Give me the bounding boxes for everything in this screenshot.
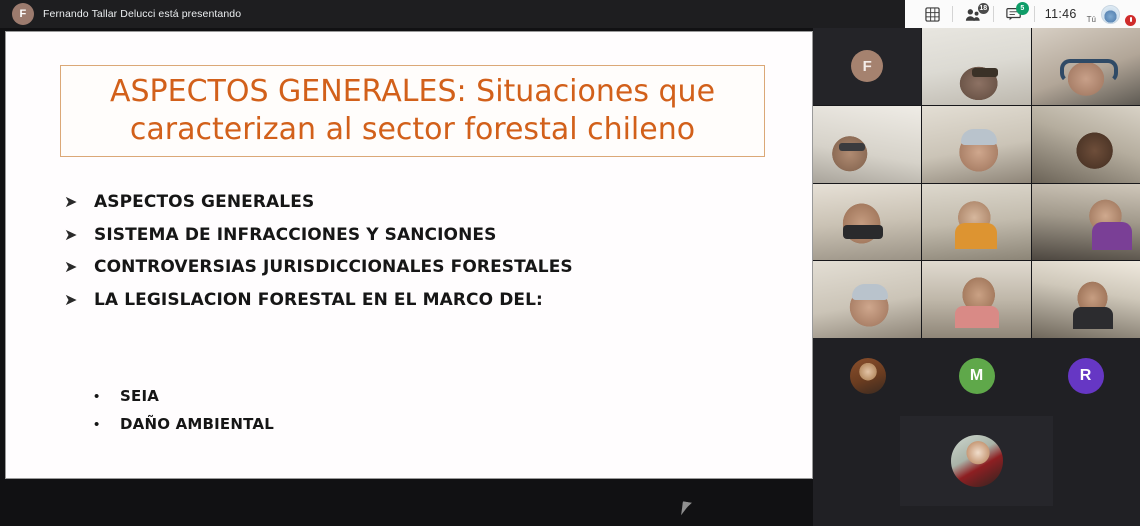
- avatar[interactable]: M: [959, 358, 995, 394]
- arrow-bullet-icon: ➤: [64, 195, 94, 211]
- audio-only-participants: M R: [813, 340, 1140, 412]
- slide-bullet-list: ➤ ASPECTOS GENERALES ➤ SISTEMA DE INFRAC…: [64, 192, 764, 322]
- presenter-status-group: F Fernando Tallar Delucci está presentan…: [12, 3, 241, 25]
- spotlight-avatar: [951, 435, 1003, 487]
- list-item: ➤ LA LEGISLACION FORESTAL EN EL MARCO DE…: [64, 290, 764, 310]
- spotlight-tile[interactable]: [900, 416, 1053, 506]
- bullet-text: SISTEMA DE INFRACCIONES Y SANCIONES: [94, 225, 497, 245]
- chat-button[interactable]: 5: [994, 0, 1034, 28]
- participant-tile[interactable]: [1032, 261, 1140, 338]
- slide-title-box: ASPECTOS GENERALES: Situaciones que cara…: [60, 65, 765, 157]
- slide-sub-bullet-list: • SEIA • DAÑO AMBIENTAL: [94, 387, 274, 443]
- bullet-text: LA LEGISLACION FORESTAL EN EL MARCO DEL:: [94, 290, 543, 310]
- participant-tile[interactable]: [922, 261, 1030, 338]
- meeting-clock: 11:46: [1035, 7, 1087, 21]
- avatar: F: [851, 50, 883, 82]
- bullet-text: ASPECTOS GENERALES: [94, 192, 314, 212]
- participant-tile[interactable]: [1032, 106, 1140, 183]
- list-item: • DAÑO AMBIENTAL: [94, 415, 274, 433]
- participant-tile[interactable]: [922, 28, 1030, 105]
- arrow-bullet-icon: ➤: [64, 260, 94, 276]
- grid-view-icon: [925, 7, 940, 22]
- participant-tile[interactable]: [1032, 28, 1140, 105]
- avatar[interactable]: R: [1068, 358, 1104, 394]
- participant-tile[interactable]: [813, 106, 921, 183]
- presenter-avatar: F: [12, 3, 34, 25]
- list-item: ➤ CONTROVERSIAS JURISDICCIONALES FORESTA…: [64, 257, 764, 277]
- dot-bullet-icon: •: [94, 389, 120, 404]
- avatar[interactable]: [850, 358, 886, 394]
- top-bar: F Fernando Tallar Delucci está presentan…: [0, 0, 1140, 28]
- you-label: Tú: [1087, 15, 1096, 24]
- presenter-status-text: Fernando Tallar Delucci está presentando: [43, 8, 241, 20]
- participant-tile[interactable]: [1032, 184, 1140, 261]
- list-item: • SEIA: [94, 387, 274, 405]
- participant-tile[interactable]: [813, 184, 921, 261]
- bullet-text: CONTROVERSIAS JURISDICCIONALES FORESTALE…: [94, 257, 573, 277]
- sub-bullet-text: DAÑO AMBIENTAL: [120, 415, 274, 433]
- arrow-bullet-icon: ➤: [64, 293, 94, 309]
- presentation-stage: ASPECTOS GENERALES: Situaciones que cara…: [0, 28, 813, 526]
- page-title: ASPECTOS GENERALES: Situaciones que cara…: [61, 73, 764, 149]
- list-item: ➤ SISTEMA DE INFRACCIONES Y SANCIONES: [64, 225, 764, 245]
- list-item: ➤ ASPECTOS GENERALES: [64, 192, 764, 212]
- participants-button[interactable]: 18: [953, 0, 993, 28]
- arrow-bullet-icon: ➤: [64, 228, 94, 244]
- sub-bullet-text: SEIA: [120, 387, 159, 405]
- grid-view-button[interactable]: [913, 0, 952, 28]
- participant-tile[interactable]: F: [813, 28, 921, 105]
- participant-tile[interactable]: [922, 184, 1030, 261]
- participants-count-badge: 18: [978, 3, 989, 14]
- user-avatar[interactable]: [1101, 5, 1120, 24]
- participant-tile[interactable]: [813, 261, 921, 338]
- video-grid: F: [813, 28, 1140, 338]
- mouse-cursor: [681, 501, 692, 516]
- participant-tile[interactable]: [922, 106, 1030, 183]
- meeting-window: F Fernando Tallar Delucci está presentan…: [0, 0, 1140, 526]
- slide-surface: ASPECTOS GENERALES: Situaciones que cara…: [5, 31, 813, 479]
- dot-bullet-icon: •: [94, 417, 120, 432]
- microphone-muted-icon[interactable]: [1125, 15, 1136, 26]
- participants-panel: F M R: [813, 28, 1140, 526]
- meeting-controls: 18 5 11:46 Tú: [905, 0, 1140, 28]
- chat-count-badge: 5: [1016, 2, 1029, 15]
